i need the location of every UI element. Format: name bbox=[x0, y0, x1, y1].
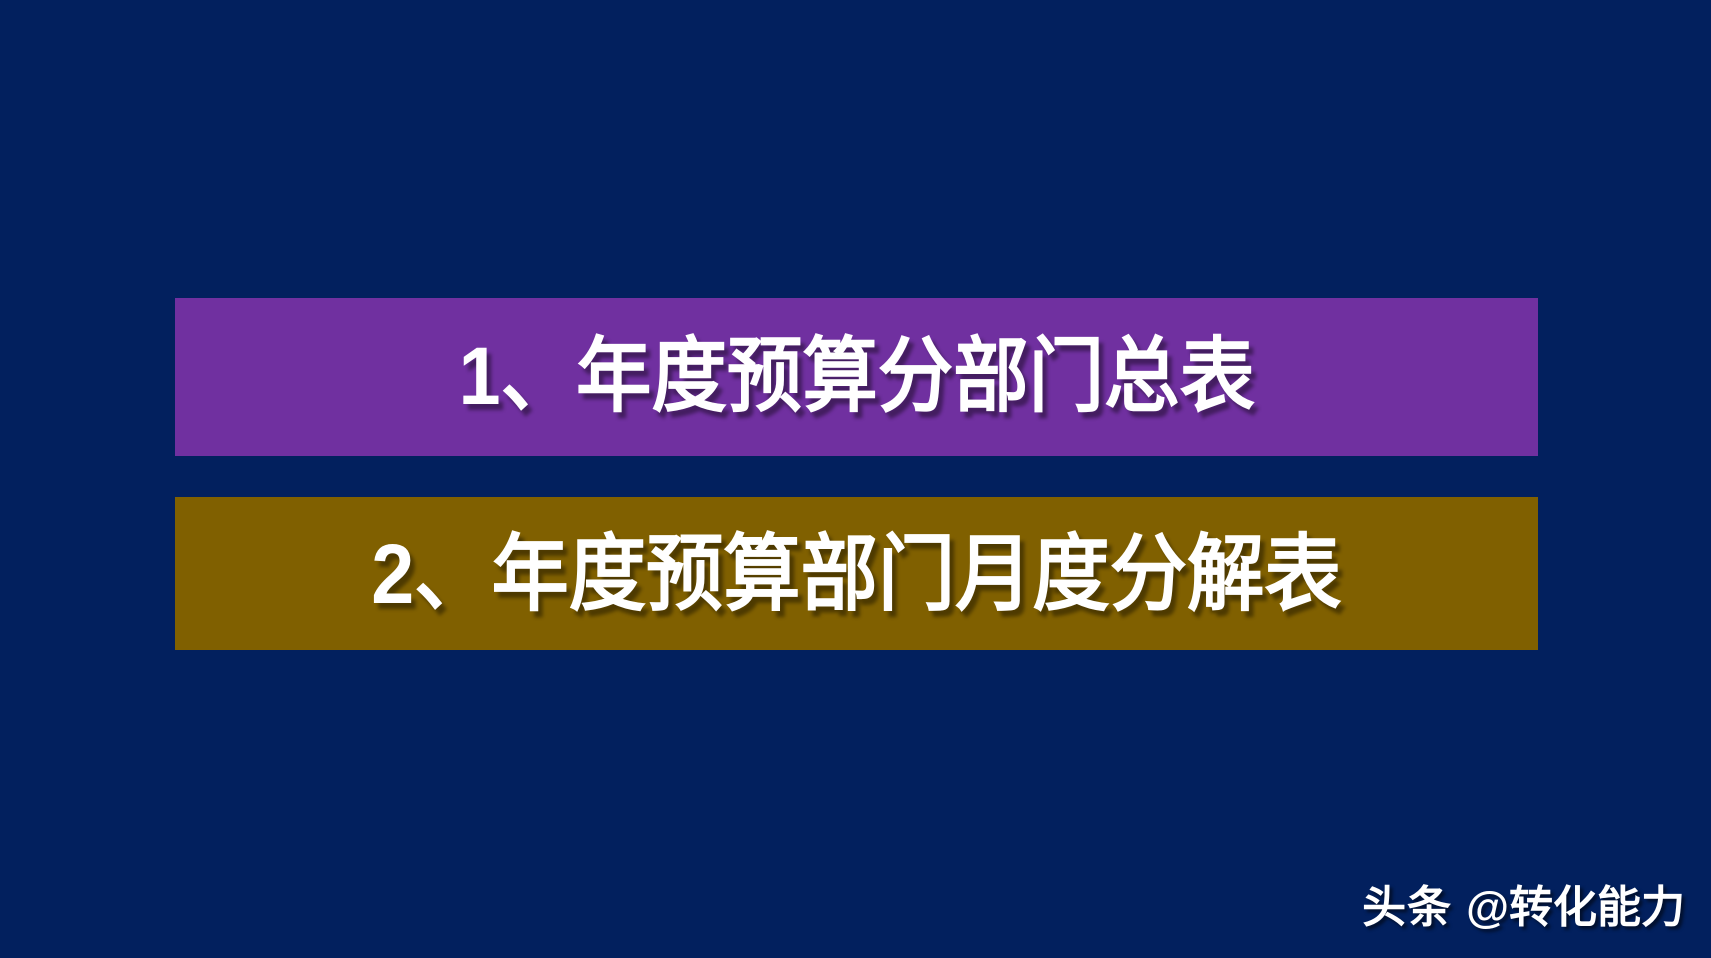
slide-canvas: 1、年度预算分部门总表 2、年度预算部门月度分解表 头条 @转化能力 bbox=[0, 0, 1711, 958]
agenda-banner-2-label: 2、年度预算部门月度分解表 bbox=[371, 532, 1341, 616]
agenda-banner-2[interactable]: 2、年度预算部门月度分解表 bbox=[175, 497, 1538, 650]
watermark-handle-label: @转化能力 bbox=[1466, 886, 1685, 930]
watermark-brand-label: 头条 bbox=[1362, 886, 1452, 930]
agenda-banner-1-label: 1、年度预算分部门总表 bbox=[458, 336, 1254, 418]
agenda-banner-1[interactable]: 1、年度预算分部门总表 bbox=[175, 298, 1538, 456]
watermark: 头条 @转化能力 bbox=[1362, 886, 1685, 930]
